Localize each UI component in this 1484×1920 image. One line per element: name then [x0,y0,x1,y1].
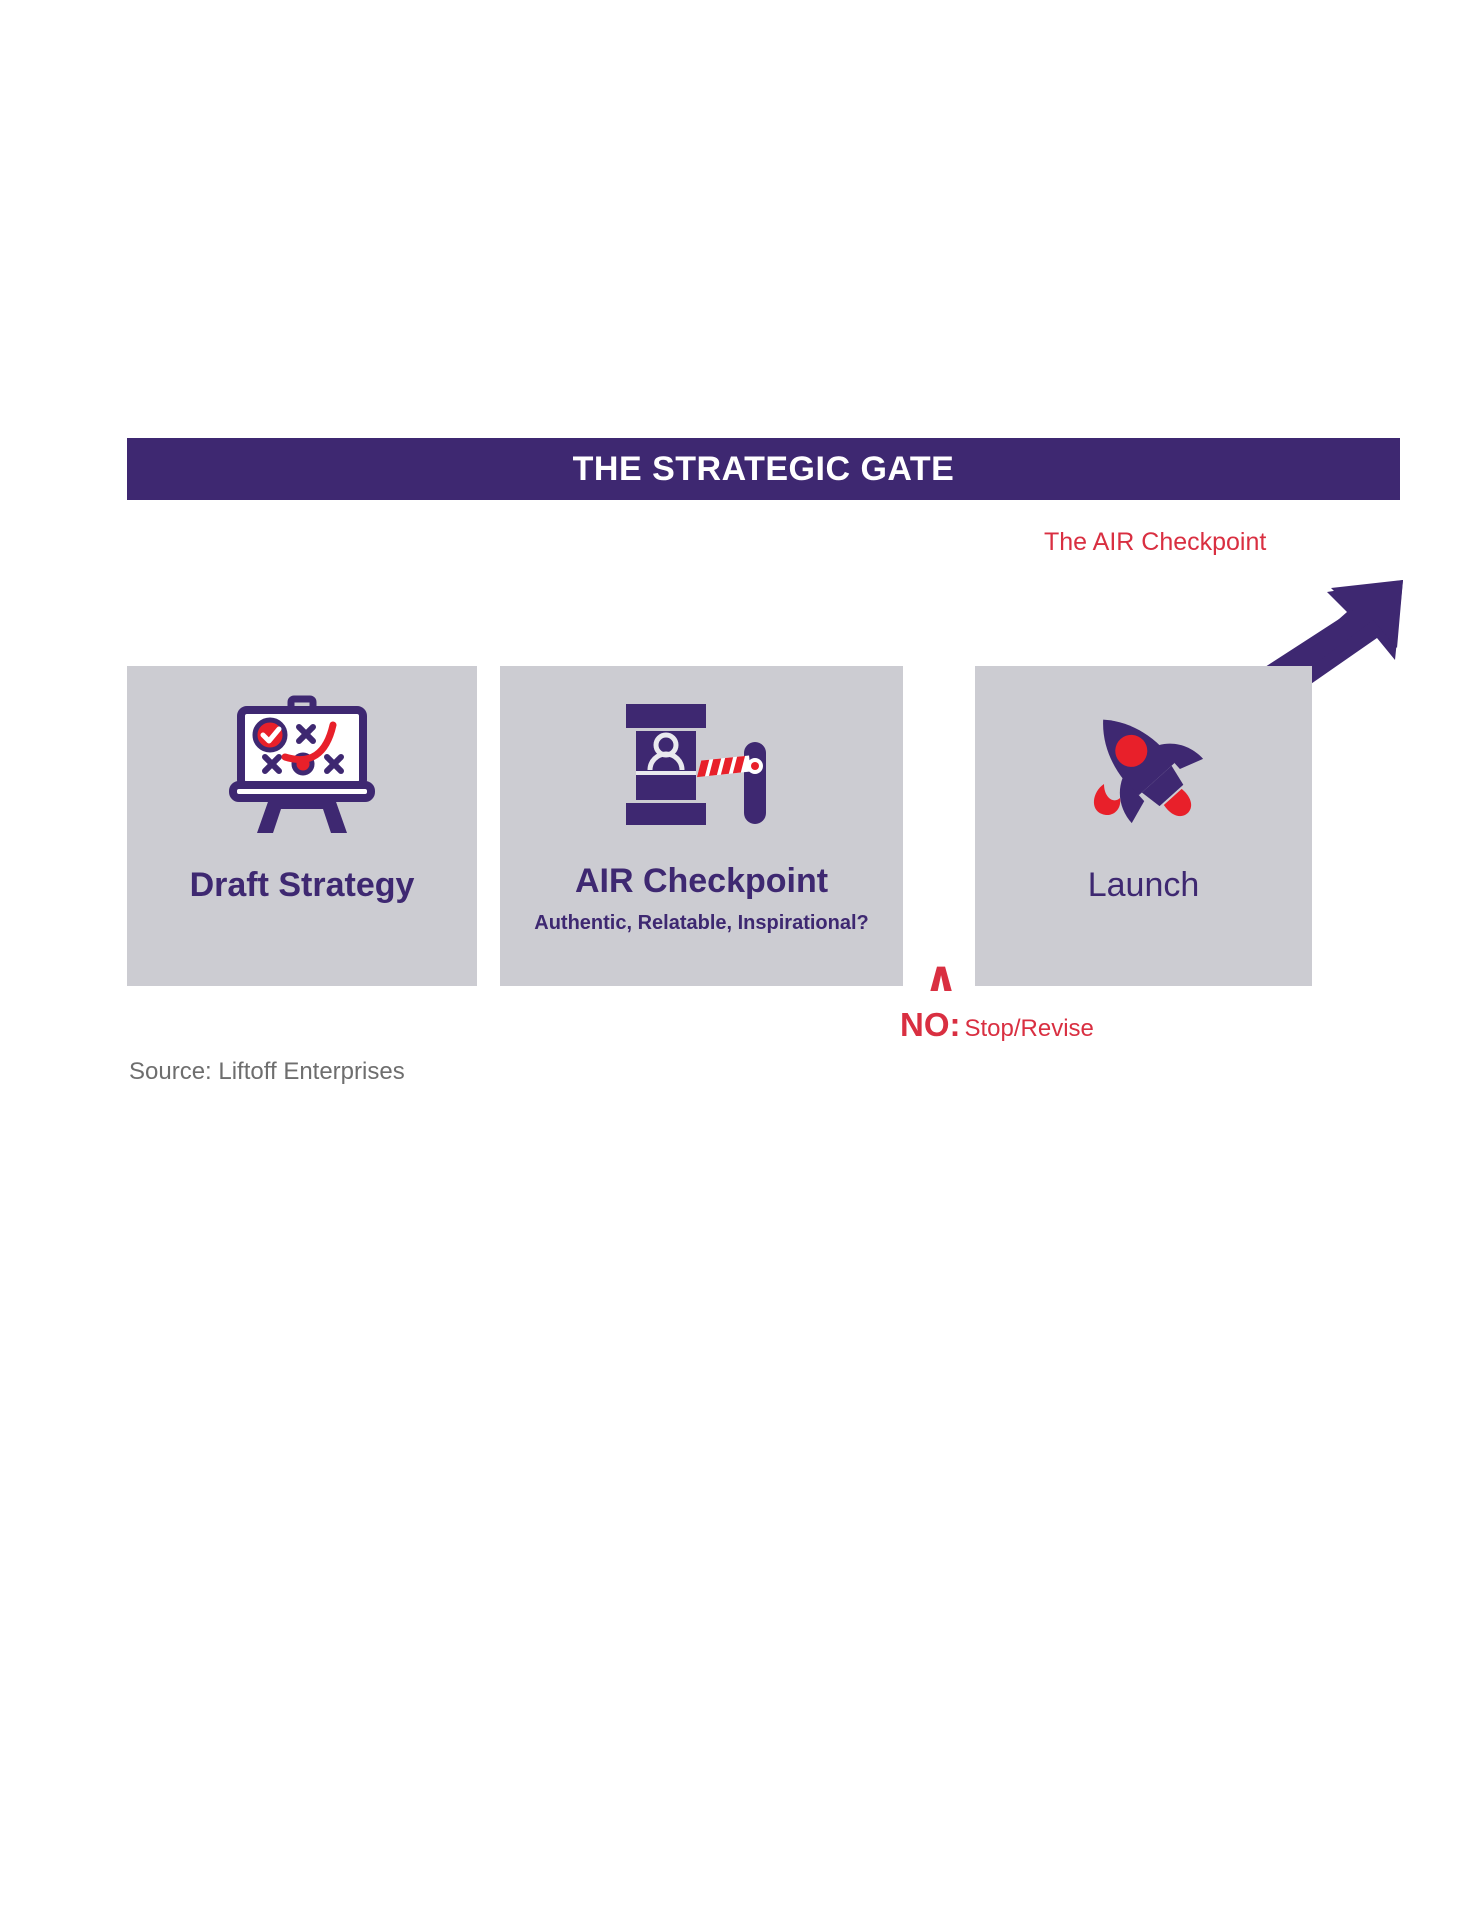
card-label-launch: Launch [975,866,1312,905]
card-launch[interactable]: Launch [975,666,1312,986]
card-draft-strategy[interactable]: Draft Strategy [127,666,477,986]
no-action-label: Stop/Revise [965,1015,1094,1042]
card-label-draft-strategy: Draft Strategy [127,866,477,905]
checkpoint-barrier-icon [500,700,903,830]
page-title: THE STRATEGIC GATE [573,450,955,489]
card-label-air-checkpoint: AIR Checkpoint [500,862,903,901]
source-note: Source: Liftoff Enterprises [129,1058,405,1086]
strategic-gate-infographic: THE STRATEGIC GATE The AIR Checkpoint [0,0,1484,1920]
no-branch-line: NO:Stop/Revise [900,1006,1094,1044]
no-label: NO: [900,1006,961,1043]
card-air-checkpoint[interactable]: AIR Checkpoint Authentic, Relatable, Ins… [500,666,903,986]
air-checkpoint-callout: The AIR Checkpoint [1044,528,1266,557]
card-sublabel-air-checkpoint: Authentic, Relatable, Inspirational? [500,912,903,935]
strategy-board-icon [127,700,477,830]
title-banner: THE STRATEGIC GATE [127,438,1400,500]
rocket-icon [975,700,1312,830]
chevron-up-icon: ∧ [924,962,958,992]
